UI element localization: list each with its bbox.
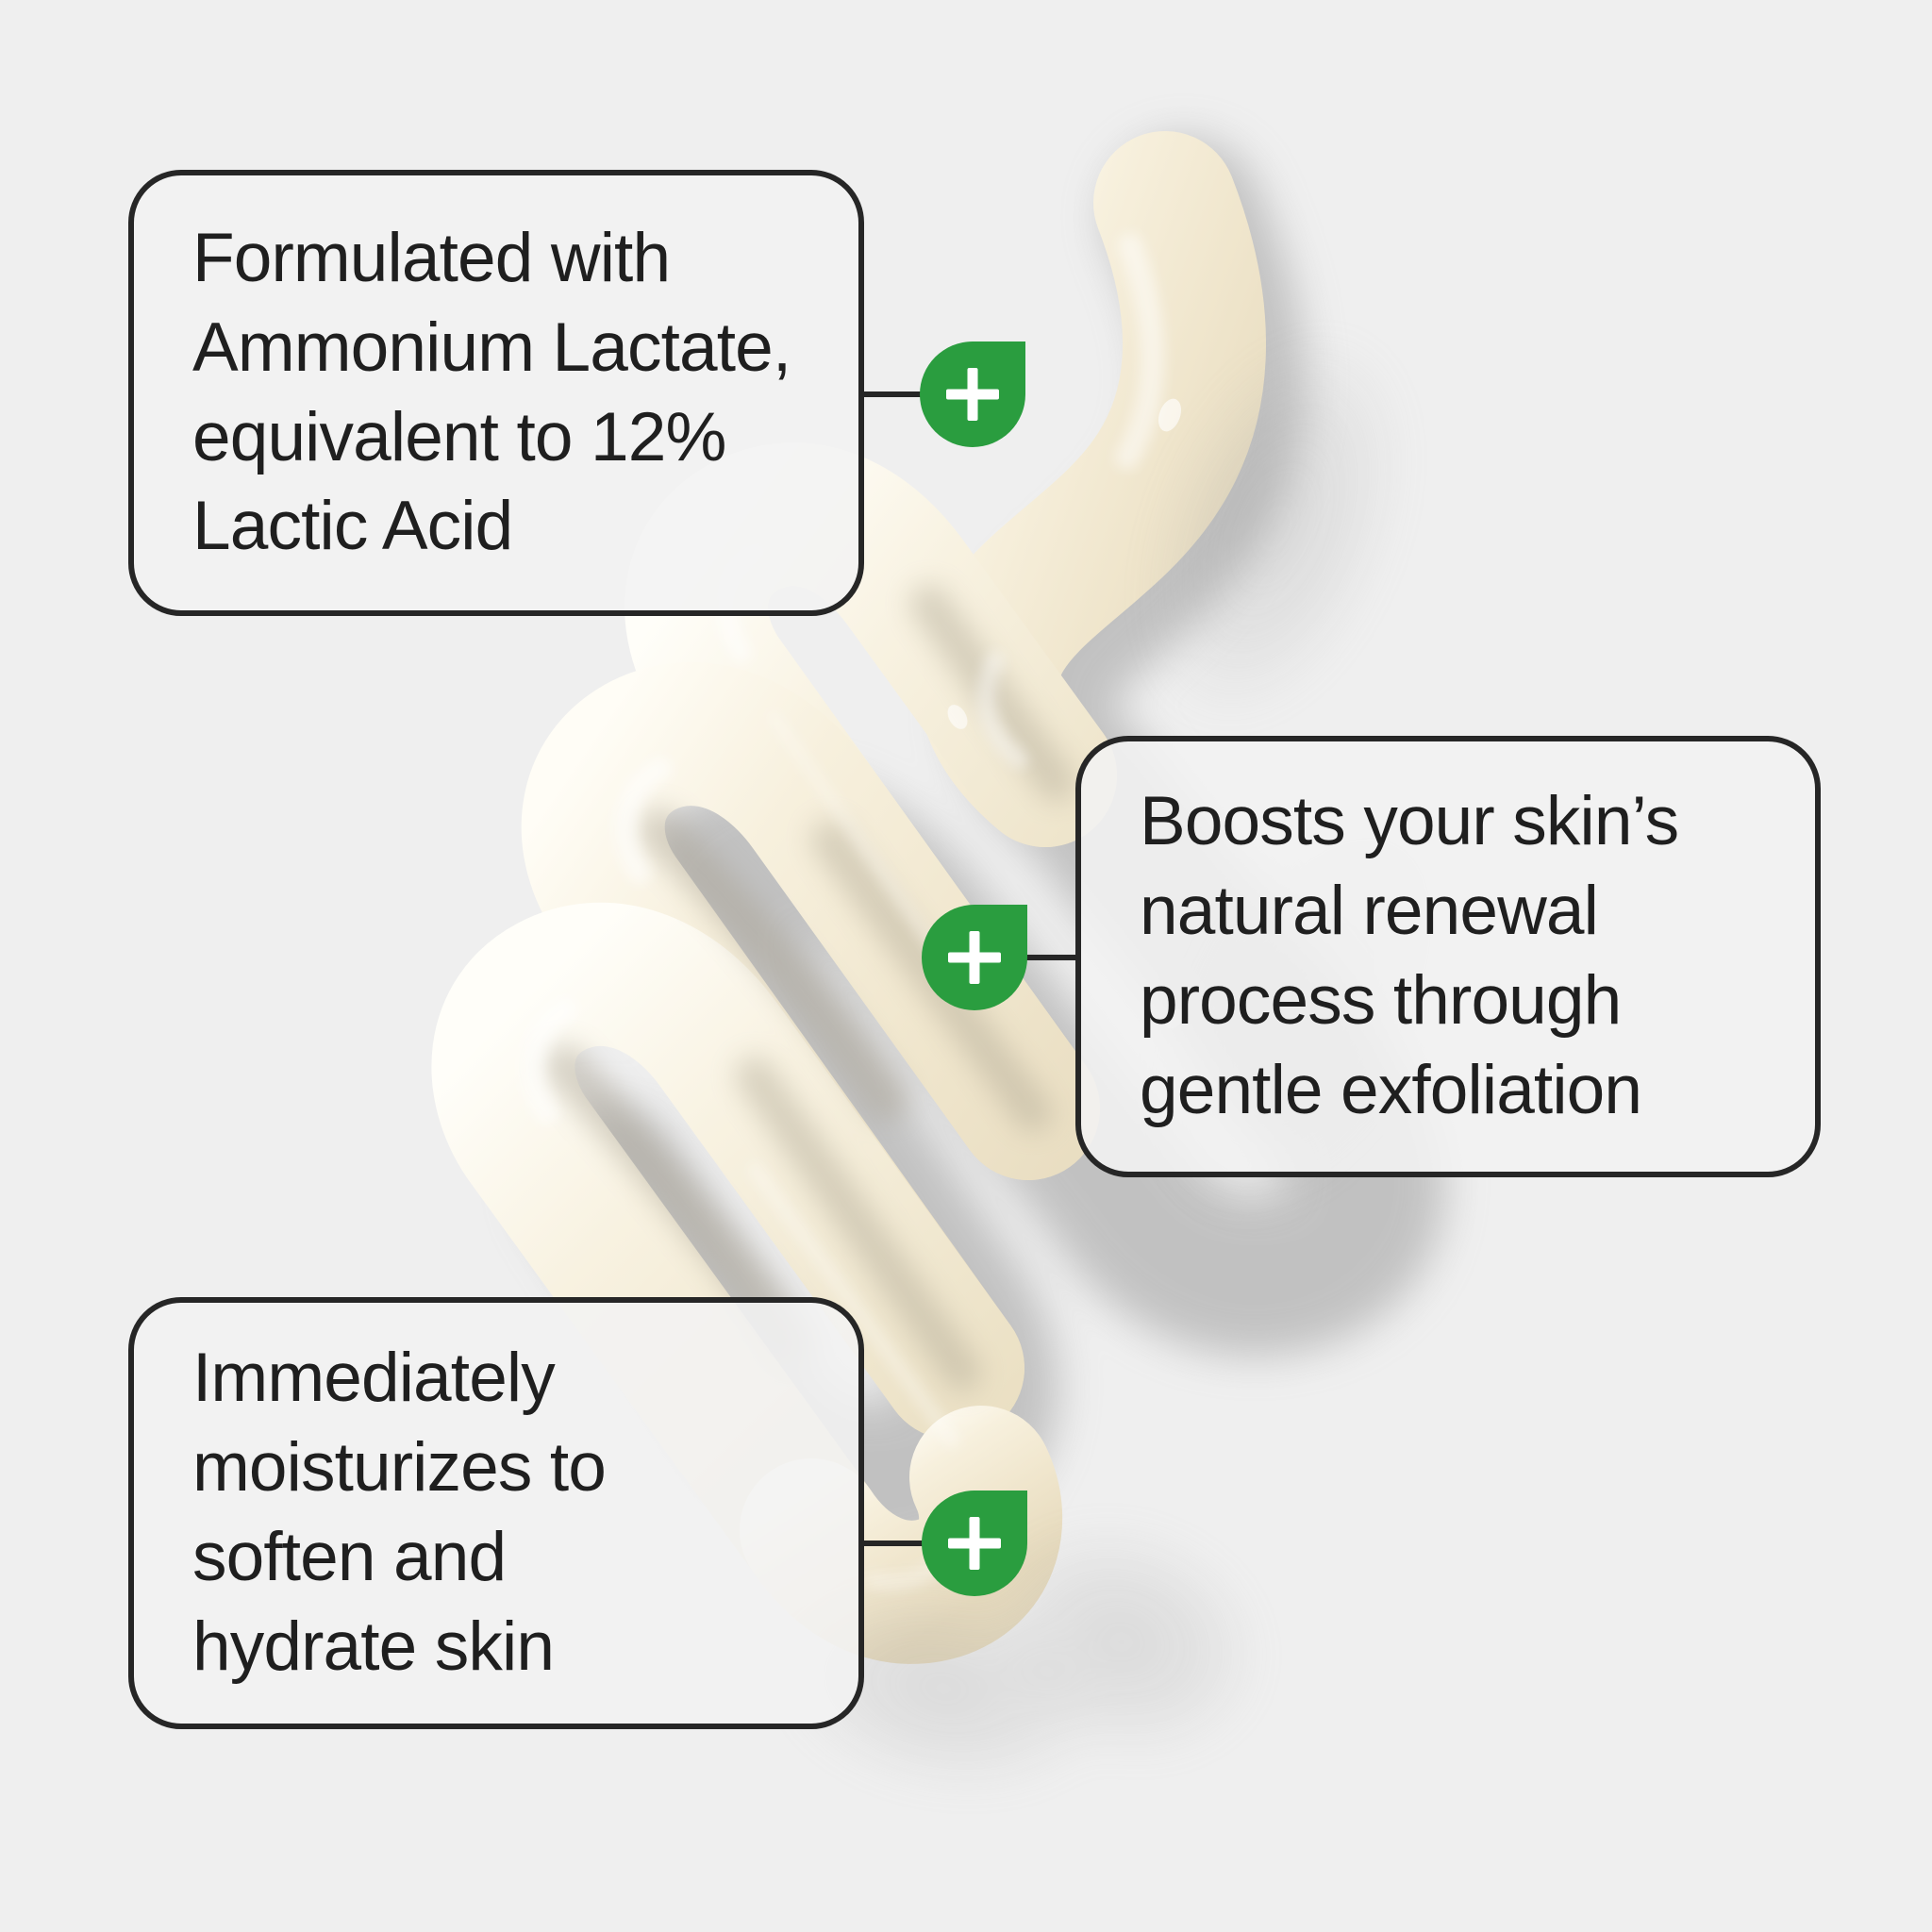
connector-line-1 xyxy=(864,391,923,397)
infographic-canvas: Formulated with Ammonium Lactate, equiva… xyxy=(0,0,1932,1932)
plus-icon xyxy=(946,368,999,421)
benefit-card-renewal-text: Boosts your skin’s natural renewal proce… xyxy=(1081,777,1716,1136)
benefit-card-formulation-text: Formulated with Ammonium Lactate, equiva… xyxy=(134,214,840,573)
connector-line-2 xyxy=(1024,955,1077,960)
benefit-card-moisture[interactable]: Immediately moisturizes to soften and hy… xyxy=(128,1297,864,1729)
plus-icon xyxy=(948,1517,1001,1570)
plus-icon xyxy=(948,931,1001,984)
benefit-card-formulation[interactable]: Formulated with Ammonium Lactate, equiva… xyxy=(128,170,864,616)
benefit-badge-1[interactable] xyxy=(920,341,1025,447)
connector-line-3 xyxy=(864,1541,924,1546)
benefit-card-renewal[interactable]: Boosts your skin’s natural renewal proce… xyxy=(1075,736,1821,1177)
benefit-badge-2[interactable] xyxy=(922,905,1027,1010)
benefit-card-moisture-text: Immediately moisturizes to soften and hy… xyxy=(134,1334,643,1692)
benefit-badge-3[interactable] xyxy=(922,1491,1027,1596)
